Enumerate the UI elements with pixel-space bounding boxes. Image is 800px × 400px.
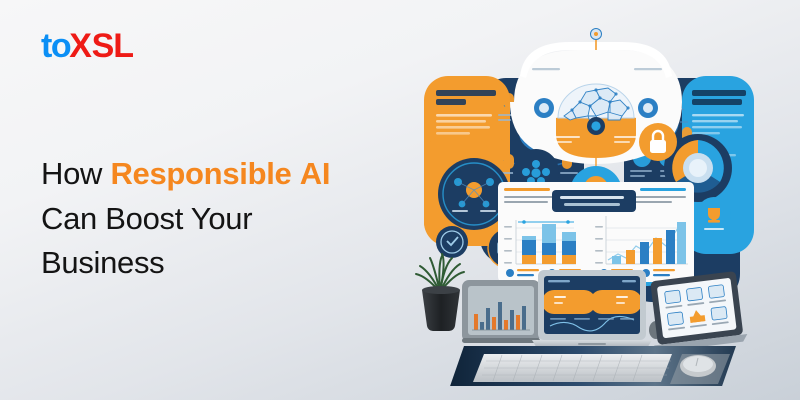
headline-plain-3: Business bbox=[41, 245, 164, 280]
headline-accent-ai: AI bbox=[300, 156, 330, 191]
headline-plain-2: Can Boost Your bbox=[41, 201, 252, 236]
desk-plant bbox=[416, 254, 464, 331]
blog-banner: toXSL How Responsible AI Can Boost Your … bbox=[0, 0, 800, 400]
toxsl-logo[interactable]: toXSL bbox=[41, 29, 133, 63]
tablet-right[interactable] bbox=[646, 271, 748, 353]
headline: How Responsible AI Can Boost Your Busine… bbox=[41, 152, 371, 286]
tablet-left[interactable] bbox=[462, 280, 540, 343]
logo-text-to: to bbox=[41, 27, 70, 65]
logo-text-sl: SL bbox=[92, 27, 133, 65]
keyboard[interactable] bbox=[473, 354, 672, 382]
laptop-center[interactable] bbox=[532, 270, 652, 350]
headline-accent-responsible: Responsible bbox=[110, 156, 291, 191]
trophy-badge-icon bbox=[697, 197, 731, 231]
padlock-icon bbox=[639, 123, 677, 161]
chart-card-title-chip bbox=[552, 190, 636, 212]
desk-setup bbox=[448, 346, 736, 386]
hero-illustration bbox=[392, 14, 800, 386]
headline-plain-1: How bbox=[41, 156, 110, 191]
logo-text-x: X bbox=[69, 27, 90, 65]
chart-card bbox=[498, 182, 694, 282]
illustration-svg bbox=[392, 14, 800, 386]
